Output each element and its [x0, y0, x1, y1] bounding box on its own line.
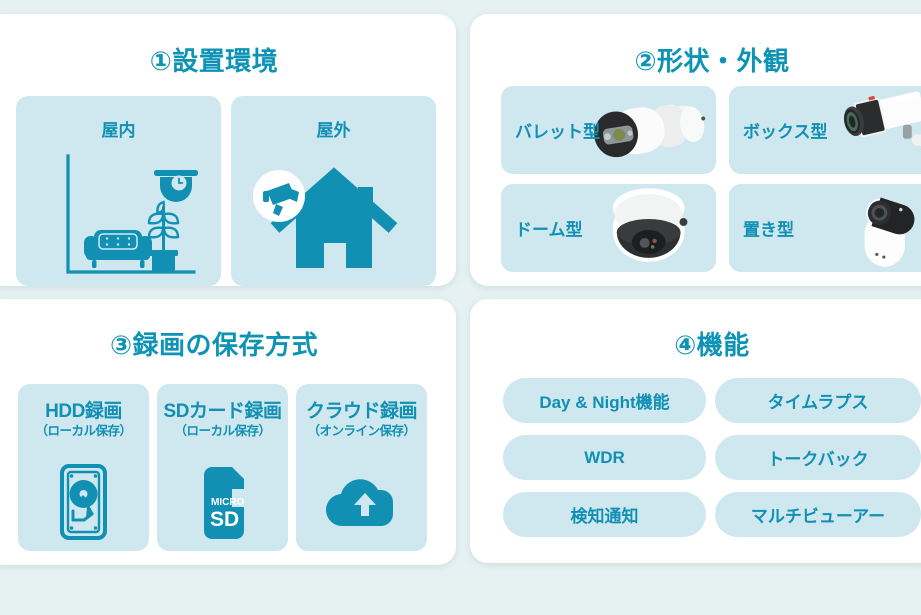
card-label-bullet: バレット型 — [515, 118, 600, 143]
card-label-box: ボックス型 — [743, 118, 828, 143]
panel-title: ②形状・外観 — [470, 41, 921, 78]
bullet-camera-photo — [583, 86, 716, 174]
label-sub: （オンライン保存） — [296, 425, 427, 438]
card-dome-camera[interactable]: ドーム型 — [501, 184, 716, 272]
hard-disk-icon — [18, 464, 149, 542]
feature-pill[interactable]: マルチビューアー — [715, 492, 921, 537]
card-label-hdd: HDD録画 （ローカル保存） — [18, 402, 149, 438]
outdoor-house-camera-icon — [231, 144, 436, 286]
label-sub: （ローカル保存） — [18, 425, 149, 438]
card-label-sd: SDカード録画 （ローカル保存） — [157, 402, 288, 438]
infographic-root: ①設置環境 屋内 — [0, 0, 921, 615]
micro-sd-card-icon: MICRO SD — [157, 464, 288, 542]
standing-camera-photo — [815, 184, 921, 272]
panel-title: ④機能 — [470, 325, 921, 362]
card-label-cloud: クラウド録画 （オンライン保存） — [296, 402, 427, 438]
panel-title: ①設置環境 — [0, 41, 456, 78]
card-bullet-camera[interactable]: バレット型 — [501, 86, 716, 174]
card-label-indoor: 屋内 — [16, 116, 221, 141]
card-box-camera[interactable]: ボックス型 — [729, 86, 921, 174]
label-main: SDカード録画 — [157, 402, 288, 422]
card-outdoor[interactable]: 屋外 — [231, 96, 436, 286]
label-main: HDD録画 — [18, 402, 149, 422]
feature-pill[interactable]: Day & Night機能 — [503, 378, 706, 423]
panel-title: ③録画の保存方式 — [0, 325, 456, 362]
card-label-dome: ドーム型 — [515, 216, 583, 241]
card-cloud-recording[interactable]: クラウド録画 （オンライン保存） — [296, 384, 427, 551]
indoor-room-camera-icon — [16, 144, 221, 286]
panel-installation-environment: ①設置環境 屋内 — [0, 14, 456, 286]
panel-recording-storage: ③録画の保存方式 HDD録画 （ローカル保存） — [0, 299, 456, 565]
label-sub: （ローカル保存） — [157, 425, 288, 438]
sd-sd-text: SD — [210, 508, 239, 531]
panel-features: ④機能 Day & Night機能 タイムラプス WDR トークバック 検知通知… — [470, 299, 921, 563]
card-hdd-recording[interactable]: HDD録画 （ローカル保存） — [18, 384, 149, 551]
card-standing-camera[interactable]: 置き型 — [729, 184, 921, 272]
panel-shape-appearance: ②形状・外観 バレット型 — [470, 14, 921, 286]
label-main: クラウド録画 — [296, 402, 427, 422]
card-label-outdoor: 屋外 — [231, 116, 436, 141]
feature-pill[interactable]: WDR — [503, 435, 706, 480]
dome-camera-photo — [583, 184, 716, 272]
feature-pill[interactable]: タイムラプス — [715, 378, 921, 423]
card-label-stand: 置き型 — [743, 216, 794, 241]
feature-pill[interactable]: 検知通知 — [503, 492, 706, 537]
card-indoor[interactable]: 屋内 — [16, 96, 221, 286]
card-sd-recording[interactable]: SDカード録画 （ローカル保存） MICRO SD — [157, 384, 288, 551]
cloud-upload-icon — [296, 464, 427, 542]
sd-micro-text: MICRO — [211, 497, 245, 508]
feature-pill[interactable]: トークバック — [715, 435, 921, 480]
